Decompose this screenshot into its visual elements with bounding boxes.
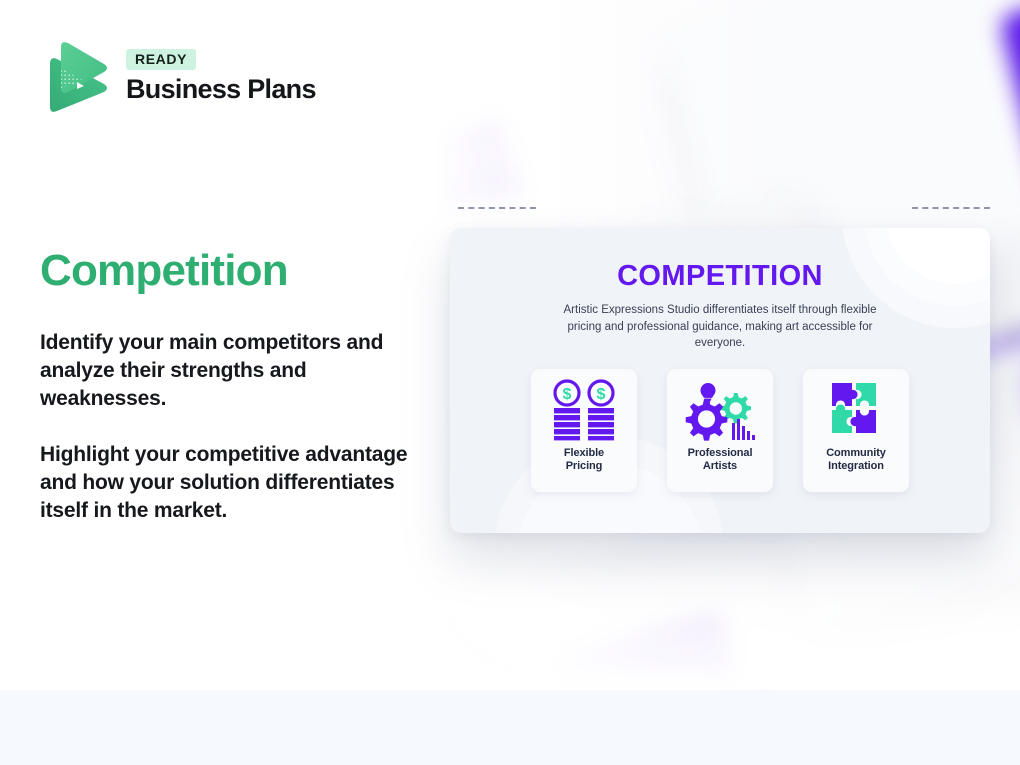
intro-paragraph-2: Highlight your competitive advantage and…	[40, 441, 428, 525]
ready-badge: READY	[126, 49, 196, 70]
intro-paragraph-1: Identify your main competitors and analy…	[40, 329, 428, 413]
coin-stacks-icon: $ $	[546, 379, 622, 441]
competition-slide-card[interactable]: COMPETITION Artistic Expressions Studio …	[450, 228, 990, 533]
gears-lightbulb-chart-icon	[682, 379, 758, 441]
svg-text:$: $	[563, 386, 572, 403]
brand-logo[interactable]: READY Business Plans	[40, 38, 316, 114]
feature-label: Professional Artists	[688, 447, 753, 474]
feature-card-flexible-pricing[interactable]: $ $ Flex	[531, 369, 637, 492]
bg-purple-block	[555, 614, 741, 690]
feature-card-community-integration[interactable]: Community Integration	[803, 369, 909, 492]
feature-card-row: $ $ Flex	[450, 368, 990, 493]
dashed-connector-right	[912, 207, 990, 209]
feature-label-line2: Pricing	[566, 460, 603, 472]
slide-subtitle: Artistic Expressions Studio differentiat…	[555, 302, 885, 352]
play-triangle-logo-icon	[40, 38, 112, 114]
bottom-band	[0, 690, 1020, 765]
page-root: READY Business Plans Competition Identif…	[0, 0, 1020, 765]
page-title: Competition	[40, 247, 288, 295]
puzzle-pieces-icon	[818, 379, 894, 441]
feature-label: Flexible Pricing	[564, 447, 604, 474]
feature-label-line1: Professional	[688, 447, 753, 459]
brand-name: Business Plans	[126, 75, 316, 103]
svg-text:$: $	[597, 386, 606, 403]
slide-title: COMPETITION	[450, 260, 990, 293]
feature-label-line2: Artists	[703, 460, 737, 472]
feature-card-professional-artists[interactable]: Professional Artists	[667, 369, 773, 492]
dashed-connector-left	[458, 207, 536, 209]
brand-text: READY Business Plans	[126, 49, 316, 103]
feature-label-line1: Flexible	[564, 447, 604, 459]
feature-label-line1: Community	[826, 447, 886, 459]
feature-label-line2: Integration	[828, 460, 884, 472]
feature-label: Community Integration	[826, 447, 886, 474]
